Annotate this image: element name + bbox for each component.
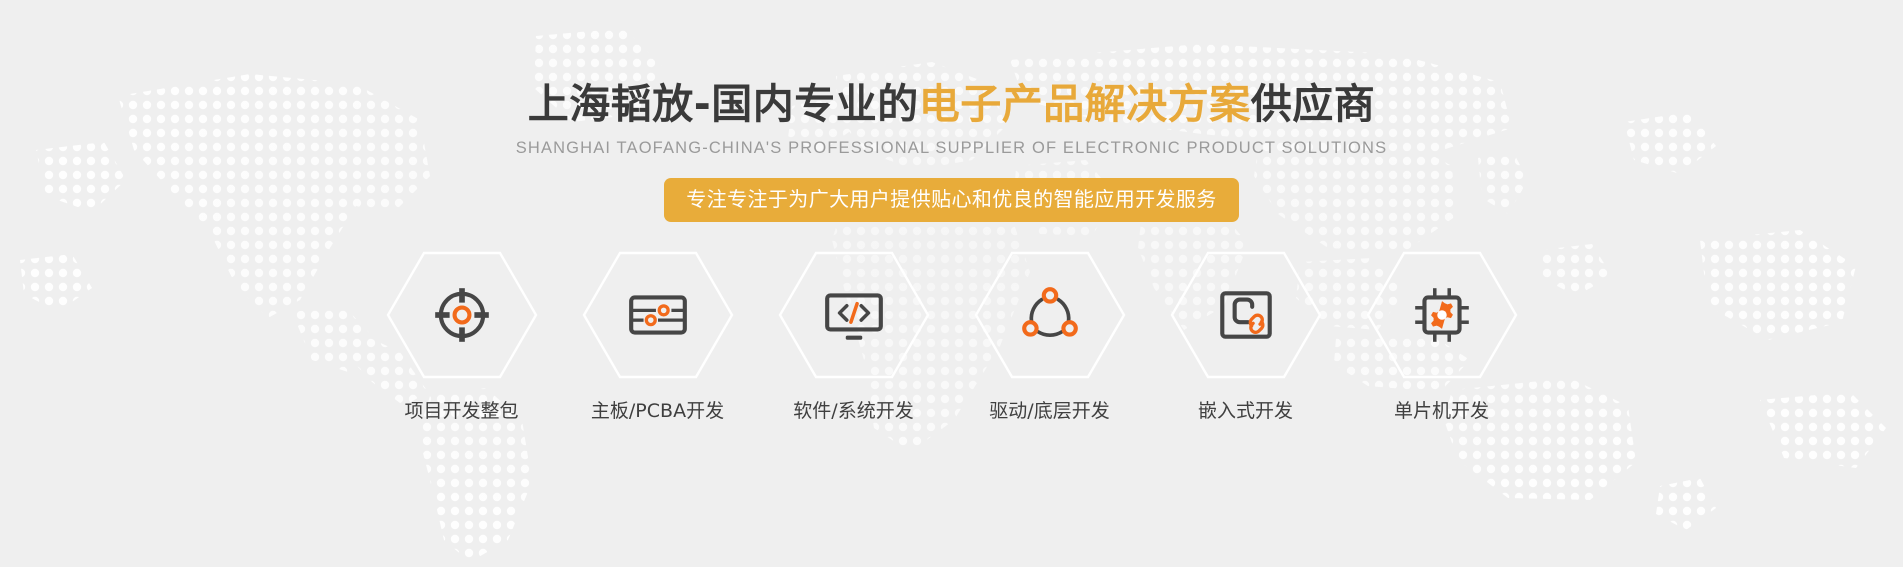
service-label: 主板/PCBA开发 [591, 402, 724, 421]
headline-segment-1: 上海韬放-国内专业的 [528, 80, 919, 128]
hexagon-frame [386, 249, 538, 381]
service-label: 单片机开发 [1394, 402, 1489, 421]
hexagon-frame [582, 249, 734, 381]
service-item-mcu[interactable]: 单片机开发 [1362, 249, 1522, 421]
banner-headline: 上海韬放-国内专业的电子产品解决方案供应商 [528, 84, 1376, 125]
pcb-board-icon [625, 282, 691, 348]
banner-tagline-badge: 专注专注于为广大用户提供贴心和优良的智能应用开发服务 [664, 178, 1238, 222]
node-network-icon [1017, 282, 1083, 348]
mcu-gear-icon [1409, 282, 1475, 348]
headline-segment-accent: 电子产品解决方案 [919, 80, 1251, 128]
banner-subtitle-english: SHANGHAI TAOFANG-CHINA'S PROFESSIONAL SU… [516, 140, 1388, 157]
embedded-chip-link-icon [1213, 282, 1279, 348]
service-label: 项目开发整包 [404, 402, 518, 421]
crosshair-target-icon [429, 282, 495, 348]
service-item-software-system[interactable]: 软件/系统开发 [774, 249, 934, 421]
hexagon-frame [974, 249, 1126, 381]
service-item-driver-lowlevel[interactable]: 驱动/底层开发 [970, 249, 1130, 421]
service-item-project-package[interactable]: 项目开发整包 [382, 249, 542, 421]
service-label: 嵌入式开发 [1198, 402, 1293, 421]
hexagon-frame [778, 249, 930, 381]
hexagon-frame [1170, 249, 1322, 381]
banner-content: 上海韬放-国内专业的电子产品解决方案供应商 SHANGHAI TAOFANG-C… [0, 0, 1903, 567]
hexagon-frame [1366, 249, 1518, 381]
service-label: 软件/系统开发 [793, 402, 913, 421]
service-label: 驱动/底层开发 [989, 402, 1109, 421]
headline-segment-3: 供应商 [1251, 80, 1376, 128]
service-item-pcba[interactable]: 主板/PCBA开发 [578, 249, 738, 421]
monitor-code-icon [821, 282, 887, 348]
service-item-embedded[interactable]: 嵌入式开发 [1166, 249, 1326, 421]
hero-banner: 上海韬放-国内专业的电子产品解决方案供应商 SHANGHAI TAOFANG-C… [0, 0, 1903, 567]
service-list: 项目开发整包 [382, 249, 1522, 421]
